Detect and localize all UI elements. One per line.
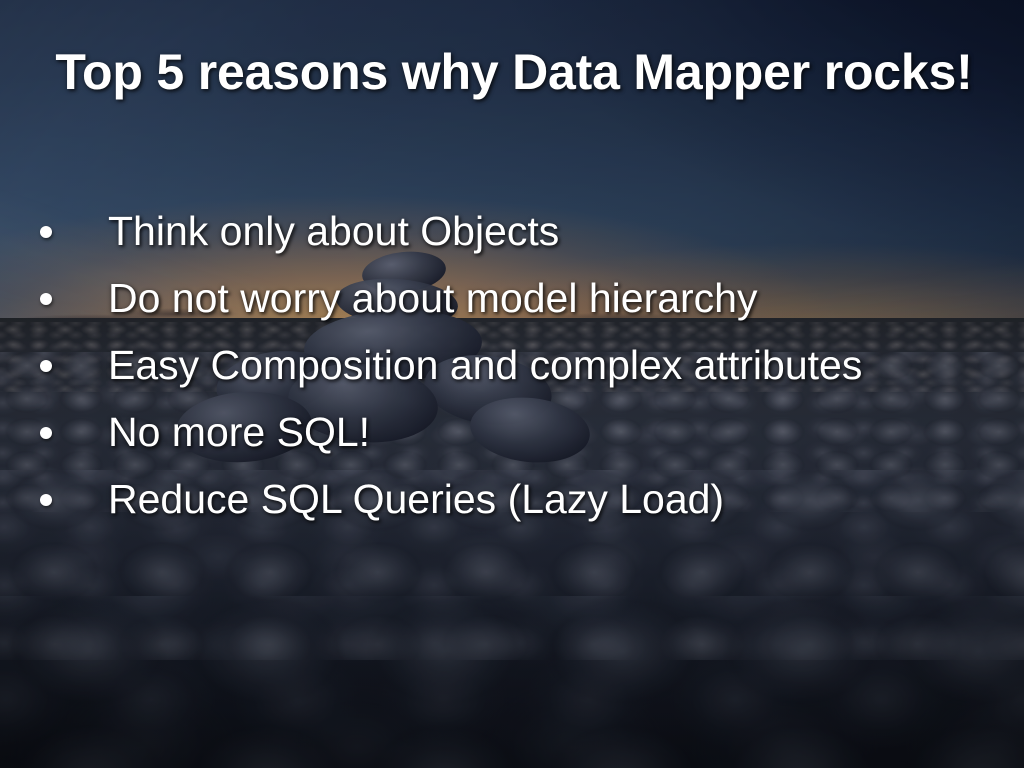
bullet-dot-icon <box>40 427 52 439</box>
presentation-slide: Top 5 reasons why Data Mapper rocks! Thi… <box>0 0 1024 768</box>
bullet-item: Think only about Objects <box>34 198 1004 265</box>
bullet-text: Reduce SQL Queries (Lazy Load) <box>108 476 724 522</box>
bullet-text: Easy Composition and complex attributes <box>108 342 862 388</box>
slide-title: Top 5 reasons why Data Mapper rocks! <box>40 46 988 99</box>
bullet-item: No more SQL! <box>34 399 1004 466</box>
bullet-text: Do not worry about model hierarchy <box>108 275 757 321</box>
bullet-item: Easy Composition and complex attributes <box>34 332 1004 399</box>
bullet-dot-icon <box>40 494 52 506</box>
bullet-dot-icon <box>40 360 52 372</box>
bullet-item: Reduce SQL Queries (Lazy Load) <box>34 466 1004 533</box>
bullet-dot-icon <box>40 226 52 238</box>
bullet-text: No more SQL! <box>108 409 370 455</box>
bullet-item: Do not worry about model hierarchy <box>34 265 1004 332</box>
slide-content: Top 5 reasons why Data Mapper rocks! Thi… <box>0 0 1024 768</box>
bullet-list: Think only about Objects Do not worry ab… <box>34 198 1004 533</box>
bullet-text: Think only about Objects <box>108 208 559 254</box>
bullet-dot-icon <box>40 293 52 305</box>
